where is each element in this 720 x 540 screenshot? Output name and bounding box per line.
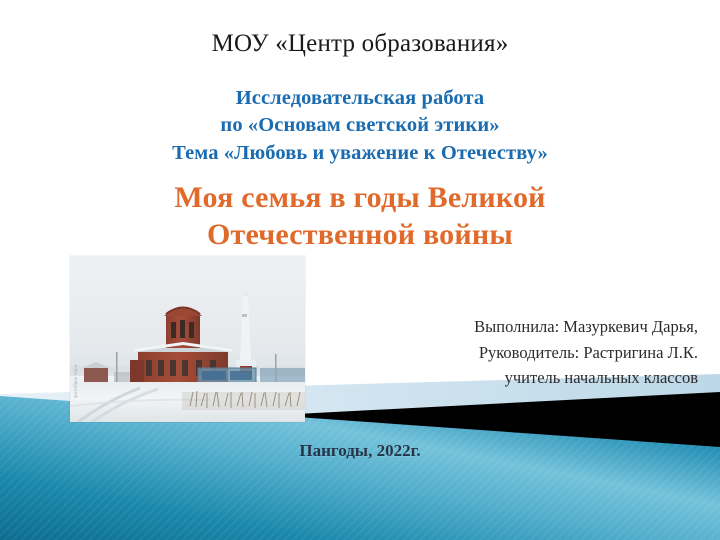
subtitle-line-2: по «Основам светской этики» — [0, 112, 720, 139]
place-and-year: Пангоды, 2022г. — [0, 441, 720, 461]
main-title-line-1: Моя семья в годы Великой — [0, 180, 720, 217]
subtitle-line-3: Тема «Любовь и уважение к Отечеству» — [0, 140, 720, 167]
author-line-2: Руководитель: Растригина Л.К. — [278, 340, 698, 366]
main-title: Моя семья в годы Великой Отечественной в… — [0, 180, 720, 253]
subtitle-line-1: Исследовательская работа — [0, 85, 720, 112]
organisation-title: МОУ «Центр образования» — [0, 30, 720, 58]
church-photo: фотобанк Лори — [70, 256, 305, 422]
authors-block: Выполнила: Мазуркевич Дарья, Руководител… — [278, 314, 698, 391]
presentation-slide: МОУ «Центр образования» Исследовательска… — [0, 0, 720, 540]
subtitle-block: Исследовательская работа по «Основам све… — [0, 85, 720, 167]
main-title-line-2: Отечественной войны — [0, 217, 720, 254]
author-line-1: Выполнила: Мазуркевич Дарья, — [278, 314, 698, 340]
author-line-3: учитель начальных классов — [278, 365, 698, 391]
photo-watermark: фотобанк Лори — [73, 288, 83, 398]
